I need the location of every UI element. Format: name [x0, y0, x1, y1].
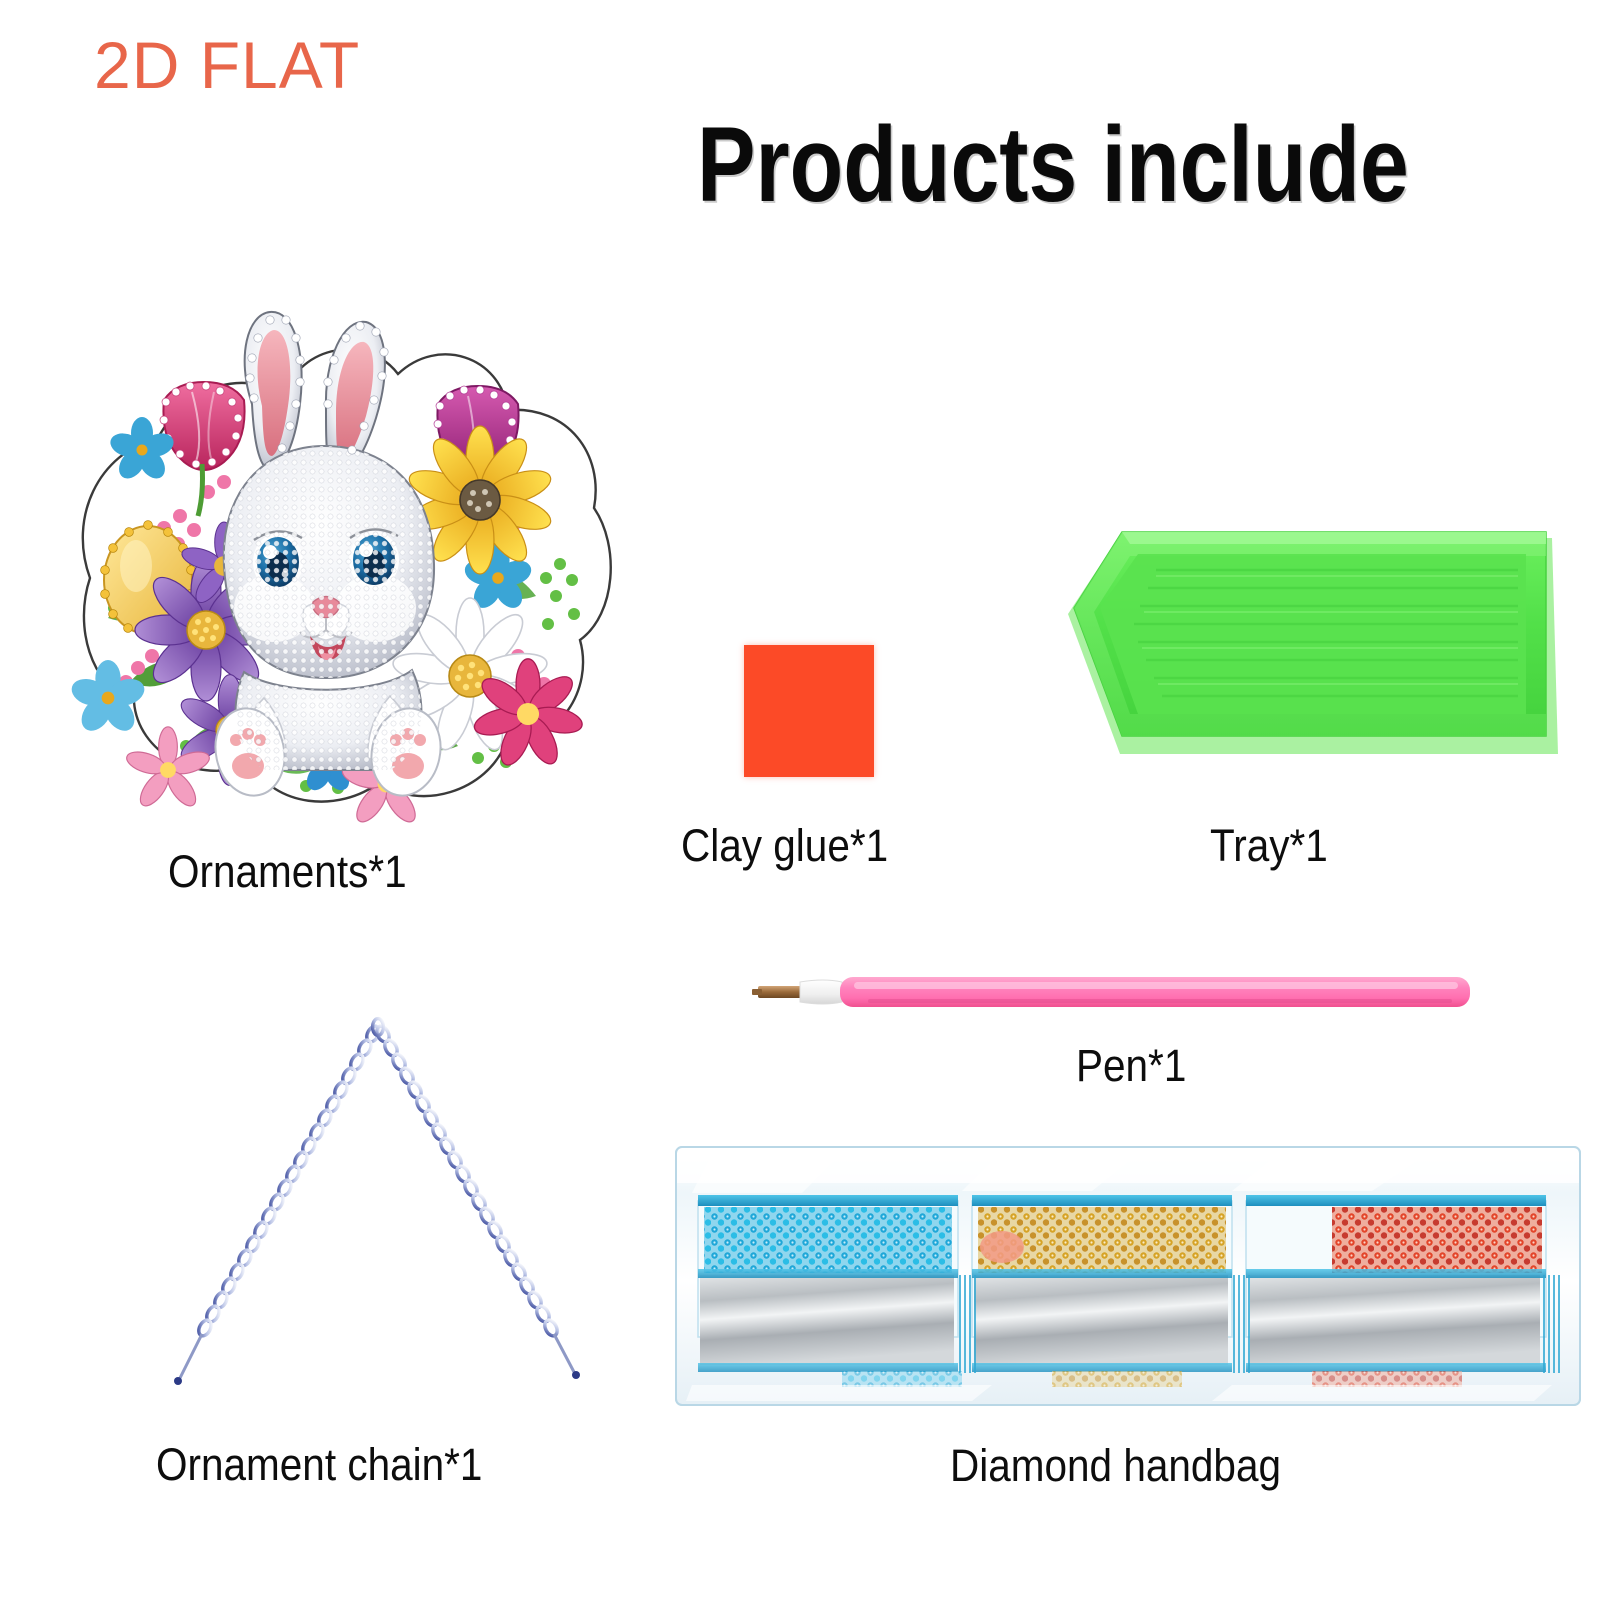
product-infographic: 2D FLAT Products include [0, 0, 1600, 1600]
diamond-tray-icon [1060, 496, 1590, 786]
diamond-storage-bag-icon [672, 1135, 1584, 1418]
tray-label: Tray*1 [1210, 823, 1328, 868]
flat-badge: 2D FLAT [94, 32, 360, 98]
handbag-label: Diamond handbag [950, 1443, 1281, 1488]
bunny-flower-ornament-icon [38, 278, 624, 824]
pen-label: Pen*1 [1076, 1043, 1186, 1088]
ornaments-label: Ornaments*1 [168, 849, 407, 894]
chain-label: Ornament chain*1 [156, 1442, 482, 1487]
page-title: Products include [697, 108, 1409, 221]
clay-glue-label: Clay glue*1 [681, 823, 888, 868]
diamond-pen-icon [748, 968, 1478, 1016]
ornament-chain-icon [150, 1000, 580, 1410]
clay-glue-square-icon [744, 645, 874, 777]
